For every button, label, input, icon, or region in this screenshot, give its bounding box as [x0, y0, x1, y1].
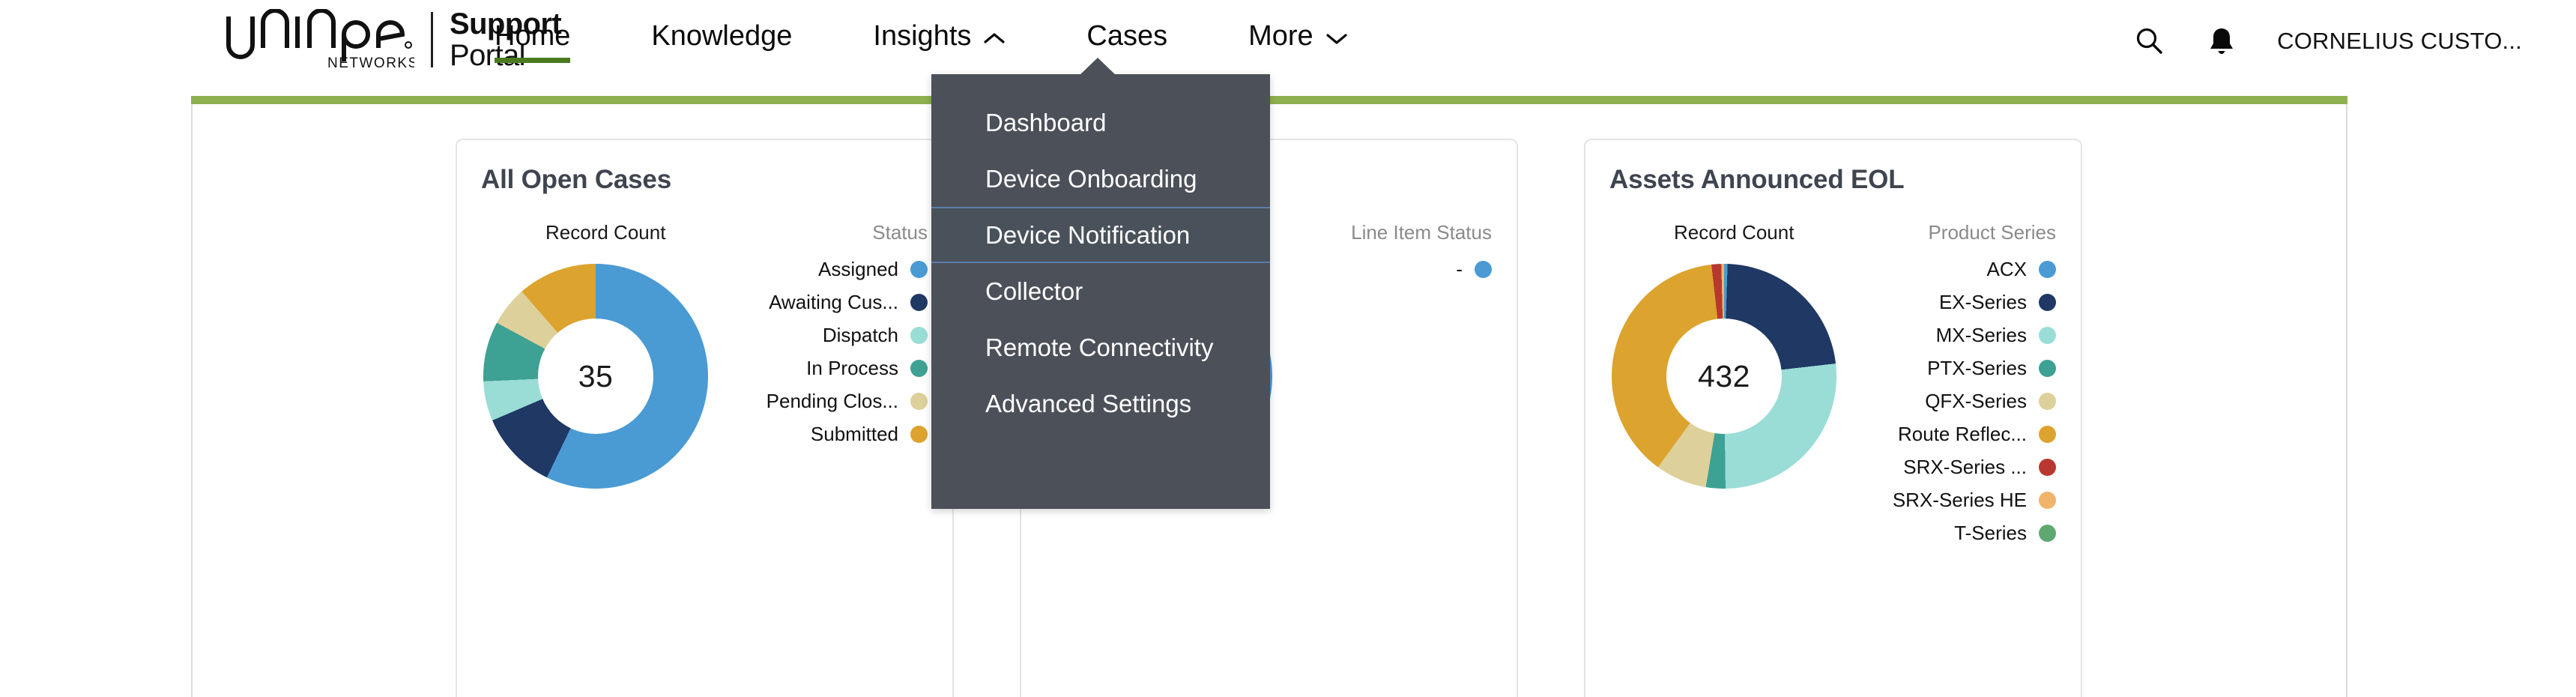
dropdown-caret-icon — [1079, 58, 1116, 76]
dropdown-item-label: Advanced Settings — [985, 390, 1191, 418]
dropdown-item-device-onboarding[interactable]: Device Onboarding — [931, 151, 1270, 207]
nav-item-cases[interactable]: Cases — [1086, 20, 1167, 63]
legend-item[interactable]: Pending Clos... — [710, 384, 928, 417]
legend-color-swatch — [910, 327, 928, 344]
legend-item-label: Dispatch — [823, 324, 898, 347]
juniper-networks-logo-icon: NETWORKS — [221, 9, 414, 70]
legend-item-label: Pending Clos... — [767, 390, 898, 413]
legend-color-swatch — [2039, 492, 2056, 509]
legend-item-label: ACX — [1987, 258, 2027, 281]
legend-color-swatch — [2039, 426, 2056, 443]
legend-item[interactable]: EX-Series — [1839, 286, 2056, 319]
legend-color-swatch — [2039, 294, 2056, 311]
bell-icon[interactable] — [2205, 25, 2238, 58]
dropdown-item-advanced-settings[interactable]: Advanced Settings — [931, 375, 1270, 432]
chevron-down-icon — [1325, 20, 1348, 52]
legend-item-label: PTX-Series — [1927, 357, 2027, 380]
legend-item[interactable]: PTX-Series — [1839, 351, 2056, 384]
legend-item-label: In Process — [806, 357, 898, 380]
chevron-up-icon — [983, 20, 1006, 52]
legend-item-label: QFX-Series — [1925, 390, 2027, 413]
dropdown-item-label: Dashboard — [985, 109, 1106, 137]
logo-divider — [431, 12, 433, 67]
user-menu[interactable]: CORNELIUS CUSTO... — [2277, 28, 2522, 55]
legend-item-label: Assigned — [818, 258, 898, 281]
legend-item[interactable]: Route Reflec... — [1839, 417, 2056, 450]
legend-color-swatch — [910, 294, 928, 311]
card-title: Assets Announced EOL — [1609, 165, 1904, 195]
nav-item-home[interactable]: Home — [495, 20, 570, 63]
donut-center-value: 35 — [578, 359, 614, 394]
dropdown-item-remote-connectivity[interactable]: Remote Connectivity — [931, 319, 1270, 375]
legend-item[interactable]: QFX-Series — [1839, 384, 2056, 417]
legend-item-label: T-Series — [1954, 522, 2027, 545]
nav-label-cases: Cases — [1086, 20, 1167, 52]
donut-center-value: 432 — [1698, 359, 1750, 394]
main-nav: Home Knowledge Insights Cases More — [495, 0, 1429, 82]
dropdown-item-device-notification[interactable]: Device Notification — [931, 207, 1270, 263]
nav-label-insights: Insights — [873, 20, 971, 52]
legend-item[interactable]: Assigned — [710, 253, 928, 286]
legend-color-swatch — [1475, 261, 1492, 278]
chart-legend: ACXEX-SeriesMX-SeriesPTX-SeriesQFX-Serie… — [1839, 253, 2056, 549]
donut-chart[interactable]: 432 — [1612, 264, 1836, 489]
legend-item[interactable]: SRX-Series ... — [1839, 450, 2056, 483]
dropdown-item-label: Device Onboarding — [985, 165, 1197, 193]
dashboard-card-assets-announced-eol: Assets Announced EOL Record Count Produc… — [1584, 139, 2082, 697]
legend-item[interactable]: In Process — [710, 351, 928, 384]
legend-item[interactable]: T-Series — [1839, 516, 2056, 549]
nav-label-home: Home — [495, 20, 570, 52]
chart-measure-label: Record Count — [1674, 221, 1794, 244]
card-title: All Open Cases — [481, 165, 671, 195]
svg-text:NETWORKS: NETWORKS — [327, 55, 414, 70]
legend-title: Line Item Status — [1351, 221, 1492, 244]
legend-item-label: SRX-Series HE — [1893, 489, 2027, 512]
dashboard-card-all-open-cases: All Open Cases Record Count Status 35 As… — [456, 139, 954, 697]
content-frame-left-border — [191, 104, 193, 697]
dropdown-item-collector[interactable]: Collector — [931, 263, 1270, 319]
nav-item-insights[interactable]: Insights — [873, 20, 1006, 63]
app-root: NETWORKS Support Portal Home Knowledge I… — [0, 0, 2576, 697]
legend-color-swatch — [910, 426, 928, 443]
legend-title: Status — [872, 221, 928, 244]
dropdown-item-label: Device Notification — [985, 221, 1190, 250]
chart-legend: - — [1275, 253, 1492, 286]
legend-item-label: Awaiting Cus... — [769, 291, 898, 314]
chart-legend: AssignedAwaiting Cus...DispatchIn Proces… — [710, 253, 928, 450]
legend-item-label: Submitted — [811, 423, 898, 446]
legend-item[interactable]: SRX-Series HE — [1839, 483, 2056, 516]
legend-item-label: EX-Series — [1939, 291, 2027, 314]
dropdown-item-dashboard[interactable]: Dashboard — [931, 94, 1270, 151]
chart-measure-label: Record Count — [545, 221, 665, 244]
legend-item[interactable]: ACX — [1839, 253, 2056, 286]
dropdown-item-label: Remote Connectivity — [985, 334, 1213, 362]
legend-color-swatch — [910, 393, 928, 410]
legend-color-swatch — [2039, 459, 2056, 476]
nav-item-more[interactable]: More — [1248, 20, 1348, 63]
legend-item[interactable]: Dispatch — [710, 319, 928, 351]
nav-active-underline — [495, 58, 570, 63]
legend-item-label: - — [1456, 258, 1463, 281]
legend-title: Product Series — [1928, 221, 2056, 244]
search-icon[interactable] — [2133, 25, 2166, 58]
legend-color-swatch — [2039, 525, 2056, 542]
content-frame-right-border — [2346, 104, 2347, 697]
legend-color-swatch — [910, 261, 928, 278]
legend-item-label: SRX-Series ... — [1903, 456, 2027, 479]
insights-dropdown-menu: DashboardDevice OnboardingDevice Notific… — [931, 74, 1270, 509]
legend-item[interactable]: MX-Series — [1839, 319, 2056, 351]
header-actions: CORNELIUS CUSTO... — [2133, 0, 2522, 82]
legend-color-swatch — [2039, 393, 2056, 410]
legend-item-label: MX-Series — [1936, 324, 2027, 347]
dropdown-item-label: Collector — [985, 277, 1083, 306]
legend-item[interactable]: Submitted — [710, 417, 928, 450]
legend-color-swatch — [910, 360, 928, 377]
nav-label-more: More — [1248, 20, 1313, 52]
legend-color-swatch — [2039, 261, 2056, 278]
nav-item-knowledge[interactable]: Knowledge — [651, 20, 792, 63]
legend-color-swatch — [2039, 327, 2056, 344]
donut-chart[interactable]: 35 — [483, 264, 708, 489]
app-header: NETWORKS Support Portal Home Knowledge I… — [0, 0, 2576, 90]
legend-item[interactable]: - — [1275, 253, 1492, 286]
legend-item-label: Route Reflec... — [1898, 423, 2027, 446]
nav-label-knowledge: Knowledge — [651, 20, 792, 52]
legend-color-swatch — [2039, 360, 2056, 377]
legend-item[interactable]: Awaiting Cus... — [710, 286, 928, 319]
